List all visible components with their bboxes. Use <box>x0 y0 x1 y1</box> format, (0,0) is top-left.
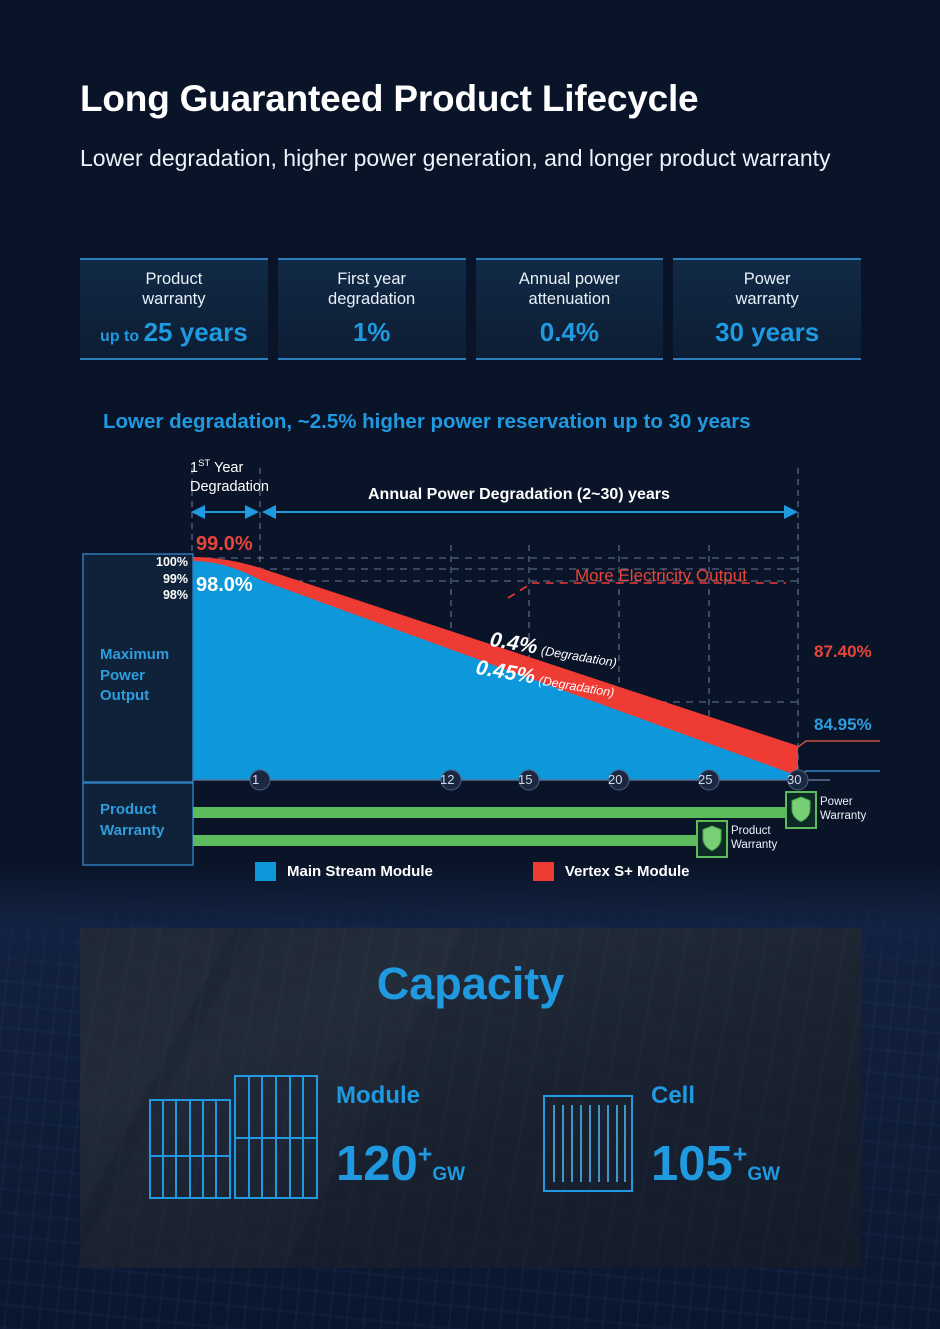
x-tick-15: 15 <box>518 772 532 787</box>
capacity-item-unit: GW <box>432 1164 465 1185</box>
page-title: Long Guaranteed Product Lifecycle <box>80 78 698 120</box>
capacity-item-name: Module <box>336 1082 465 1110</box>
stat-card-title: First year degradation <box>328 270 415 310</box>
stat-card-power-warranty: Power warranty 30 years <box>673 258 861 360</box>
capacity-items: Module 120+GW <box>80 1058 861 1218</box>
warranty-label-line2: Warranty <box>731 838 777 852</box>
capacity-item-name: Cell <box>651 1082 780 1110</box>
x-tick-20: 20 <box>608 772 622 787</box>
warranty-label-line2: Warranty <box>820 809 866 823</box>
stat-card-value-main: 25 years <box>144 317 248 347</box>
x-tick-25: 25 <box>698 772 712 787</box>
panel-label-line3: Output <box>100 686 169 707</box>
stat-card-value-main: 30 years <box>715 317 819 347</box>
warranty-label-power: Power Warranty <box>820 795 866 824</box>
stat-card-value: 0.4% <box>540 317 599 348</box>
stat-card-first-year-degradation: First year degradation 1% <box>278 258 466 360</box>
stat-card-value: up to 25 years <box>100 317 248 348</box>
stat-card-product-warranty: Product warranty up to 25 years <box>80 258 268 360</box>
stat-card-title-line1: Annual power <box>519 270 620 288</box>
x-tick-1: 1 <box>252 772 259 787</box>
x-tick-12: 12 <box>440 772 454 787</box>
stat-card-annual-power-attenuation: Annual power attenuation 0.4% <box>476 258 664 360</box>
stat-card-title-line1: First year <box>337 270 406 288</box>
chart-headline: Lower degradation, ~2.5% higher power re… <box>103 410 751 434</box>
stat-card-group: Product warranty up to 25 years First ye… <box>80 258 861 360</box>
capacity-item-unit: GW <box>747 1164 780 1185</box>
warranty-label-line1: Product <box>731 824 777 838</box>
stat-card-value: 30 years <box>715 317 819 348</box>
legend-label: Main Stream Module <box>287 863 433 880</box>
capacity-item-text: Module 120+GW <box>336 1082 465 1189</box>
page-subtitle: Lower degradation, higher power generati… <box>80 143 840 174</box>
legend-swatch-red <box>533 862 554 881</box>
warranty-label-product: Product Warranty <box>731 824 777 853</box>
warranty-label-line1: Power <box>820 795 866 809</box>
stat-card-title: Product warranty <box>142 270 205 310</box>
stat-card-title: Annual power attenuation <box>519 270 620 310</box>
capacity-item-text: Cell 105+GW <box>651 1082 780 1189</box>
capacity-item-module: Module 120+GW <box>142 1068 465 1203</box>
panel-label-product-warranty: Product Warranty <box>100 800 164 841</box>
panel-label-line1: Maximum <box>100 645 169 666</box>
legend-item-vertex-s-plus-module: Vertex S+ Module <box>533 862 690 881</box>
legend-swatch-blue <box>255 862 276 881</box>
x-tick-30: 30 <box>787 772 801 787</box>
capacity-item-value: 120 <box>336 1137 418 1191</box>
capacity-item-number: 105+GW <box>651 1140 780 1189</box>
panel-label-maximum-power-output: Maximum Power Output <box>100 645 169 707</box>
stat-card-value-prefix: up to <box>100 328 144 345</box>
poster-page: Long Guaranteed Product Lifecycle Lower … <box>0 0 940 1329</box>
capacity-item-cell: Cell 105+GW <box>532 1068 780 1203</box>
stat-card-title-line2: warranty <box>142 290 205 308</box>
solar-module-icon <box>142 1068 322 1203</box>
stat-card-title: Power warranty <box>735 270 798 310</box>
capacity-item-value: 105 <box>651 1137 733 1191</box>
stat-card-value-main: 1% <box>353 317 391 347</box>
panel-label-line2: Warranty <box>100 821 164 842</box>
stat-card-title-line1: Product <box>145 270 202 288</box>
chart-legend: Main Stream Module Vertex S+ Module <box>255 862 690 881</box>
legend-item-main-stream-module: Main Stream Module <box>255 862 433 881</box>
panel-label-line2: Power <box>100 666 169 687</box>
stat-card-title-line2: degradation <box>328 290 415 308</box>
solar-cell-icon <box>532 1068 637 1203</box>
stat-card-value: 1% <box>353 317 391 348</box>
capacity-panel: Capacity <box>80 928 861 1268</box>
degradation-chart: 1ST Year Degradation Annual Power Degrad… <box>0 450 940 900</box>
capacity-item-sup: + <box>418 1141 433 1169</box>
stat-card-title-line2: warranty <box>735 290 798 308</box>
capacity-item-sup: + <box>733 1141 748 1169</box>
capacity-item-number: 120+GW <box>336 1140 465 1189</box>
stat-card-title-line1: Power <box>744 270 791 288</box>
stat-card-title-line2: attenuation <box>529 290 611 308</box>
panel-label-line1: Product <box>100 800 164 821</box>
legend-label: Vertex S+ Module <box>565 863 690 880</box>
stat-card-value-main: 0.4% <box>540 317 599 347</box>
capacity-title: Capacity <box>80 958 861 1010</box>
